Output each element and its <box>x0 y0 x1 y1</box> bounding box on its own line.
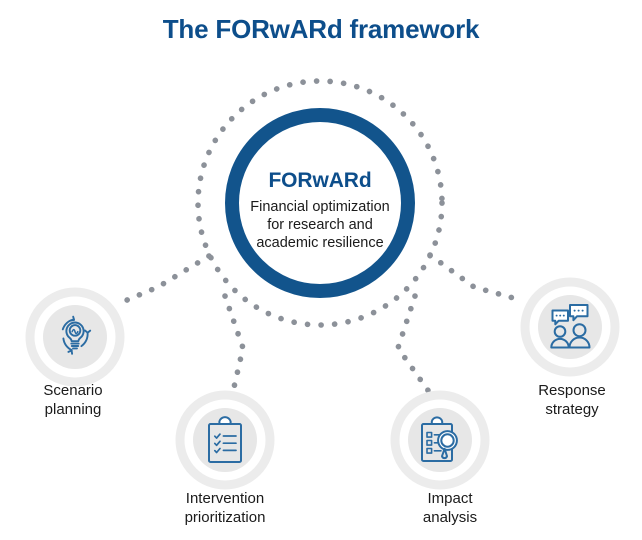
node-label-line-1: Response <box>497 381 642 400</box>
connector-to-impact-analysis <box>398 296 432 396</box>
node-label-intervention-prioritization: Intervention prioritization <box>150 489 300 527</box>
node-disc <box>43 305 107 369</box>
node-intervention-prioritization[interactable] <box>180 395 270 485</box>
connector-to-intervention-prioritization <box>225 296 243 396</box>
node-label-line-2: analysis <box>375 508 525 527</box>
node-label-line-1: Scenario <box>0 381 148 400</box>
node-impact-analysis[interactable] <box>395 395 485 485</box>
node-label-response-strategy: Response strategy <box>497 381 642 419</box>
node-label-scenario-planning: Scenario planning <box>0 381 148 419</box>
node-response-strategy[interactable] <box>525 282 615 372</box>
node-label-line-2: planning <box>0 400 148 419</box>
node-label-line-1: Intervention <box>150 489 300 508</box>
node-label-line-1: Impact <box>375 489 525 508</box>
diagram-graphics: .dotline { fill: none; stroke: #8c9199; … <box>0 0 642 540</box>
node-label-line-2: prioritization <box>150 508 300 527</box>
node-scenario-planning[interactable] <box>30 292 120 382</box>
connector-to-scenario-planning <box>120 256 209 303</box>
diagram-canvas: The FORwARd framework .dotline { fill: n… <box>0 0 642 540</box>
node-label-line-2: strategy <box>497 400 642 419</box>
connector-to-response-strategy <box>430 255 524 301</box>
hub-circle <box>232 115 408 291</box>
node-label-impact-analysis: Impact analysis <box>375 489 525 527</box>
